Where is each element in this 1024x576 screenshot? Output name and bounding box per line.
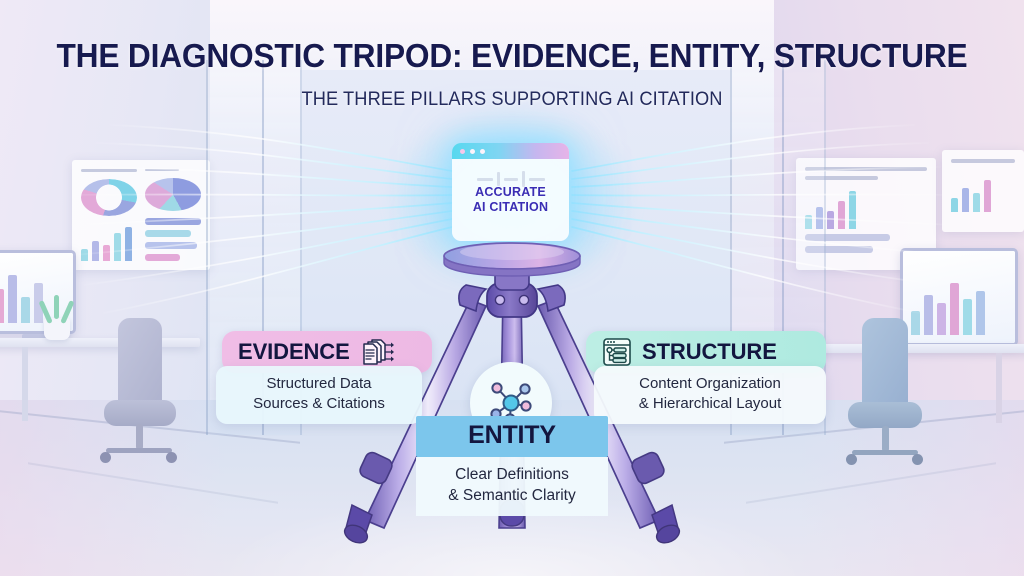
pillar-evidence[interactable]: EVIDENCE Structured Data Sources & Citat… <box>222 331 432 424</box>
pillar-structure-label: STRUCTURE <box>642 339 777 365</box>
window-dot-icon <box>470 149 475 154</box>
window-dot-icon <box>480 149 485 154</box>
plant-leaf <box>54 295 59 319</box>
accurate-ai-citation-card[interactable]: ACCURATE AI CITATION <box>452 143 569 241</box>
pillar-entity-header: ENTITY <box>416 416 608 457</box>
wall-poster-charts-left <box>72 160 210 270</box>
poster-title-bar <box>81 169 137 172</box>
pillar-entity-line1: Clear Definitions <box>416 464 608 485</box>
pillar-entity-line2: & Semantic Clarity <box>416 485 608 506</box>
sitemap-layout-icon <box>602 337 632 367</box>
stacked-documents-arrows-icon <box>360 337 394 367</box>
pillar-structure-line1: Content Organization <box>608 374 812 394</box>
monitor-right-screen <box>903 251 1015 343</box>
infographic-canvas: THE DIAGNOSTIC TRIPOD: EVIDENCE, ENTITY,… <box>0 0 1024 576</box>
pillar-entity-label: ENTITY <box>468 421 556 449</box>
potted-plant <box>44 318 70 340</box>
card-text-line2: AI CITATION <box>452 200 569 215</box>
poster-title-bar <box>951 159 1015 163</box>
desk-left <box>0 338 200 347</box>
pillar-entity-body: Clear Definitions & Semantic Clarity <box>416 457 608 516</box>
pillar-structure[interactable]: STRUCTURE Content Organization & Hierarc… <box>586 331 826 424</box>
pillar-evidence-label: EVIDENCE <box>238 339 350 365</box>
poster-bar-chart <box>81 223 137 261</box>
pillar-structure-line2: & Hierarchical Layout <box>608 394 812 414</box>
page-title: THE DIAGNOSTIC TRIPOD: EVIDENCE, ENTITY,… <box>20 37 1003 75</box>
card-title-bar <box>452 143 569 159</box>
desk-right-leg <box>996 353 1002 423</box>
poster-pie-chart <box>145 178 201 211</box>
pillar-structure-body: Content Organization & Hierarchical Layo… <box>594 366 826 424</box>
pillar-entity[interactable]: ENTITY Clear Definitions & Semantic Clar… <box>416 416 608 516</box>
poster-donut-chart <box>81 179 137 216</box>
window-dot-icon <box>460 149 465 154</box>
pillar-evidence-line1: Structured Data <box>230 374 408 394</box>
pillar-evidence-body: Structured Data Sources & Citations <box>216 366 422 424</box>
card-text: ACCURATE AI CITATION <box>452 185 569 215</box>
wall-poster-small-right <box>942 150 1024 232</box>
poster-horizontal-bars <box>145 218 201 261</box>
desk-left-leg <box>22 347 28 421</box>
desk-right <box>814 344 1024 353</box>
card-text-line1: ACCURATE <box>452 185 569 200</box>
poster-title-bar <box>145 169 179 171</box>
pillar-evidence-line2: Sources & Citations <box>230 394 408 414</box>
poster-bar-chart <box>951 168 1015 212</box>
monitor-right <box>900 248 1018 346</box>
